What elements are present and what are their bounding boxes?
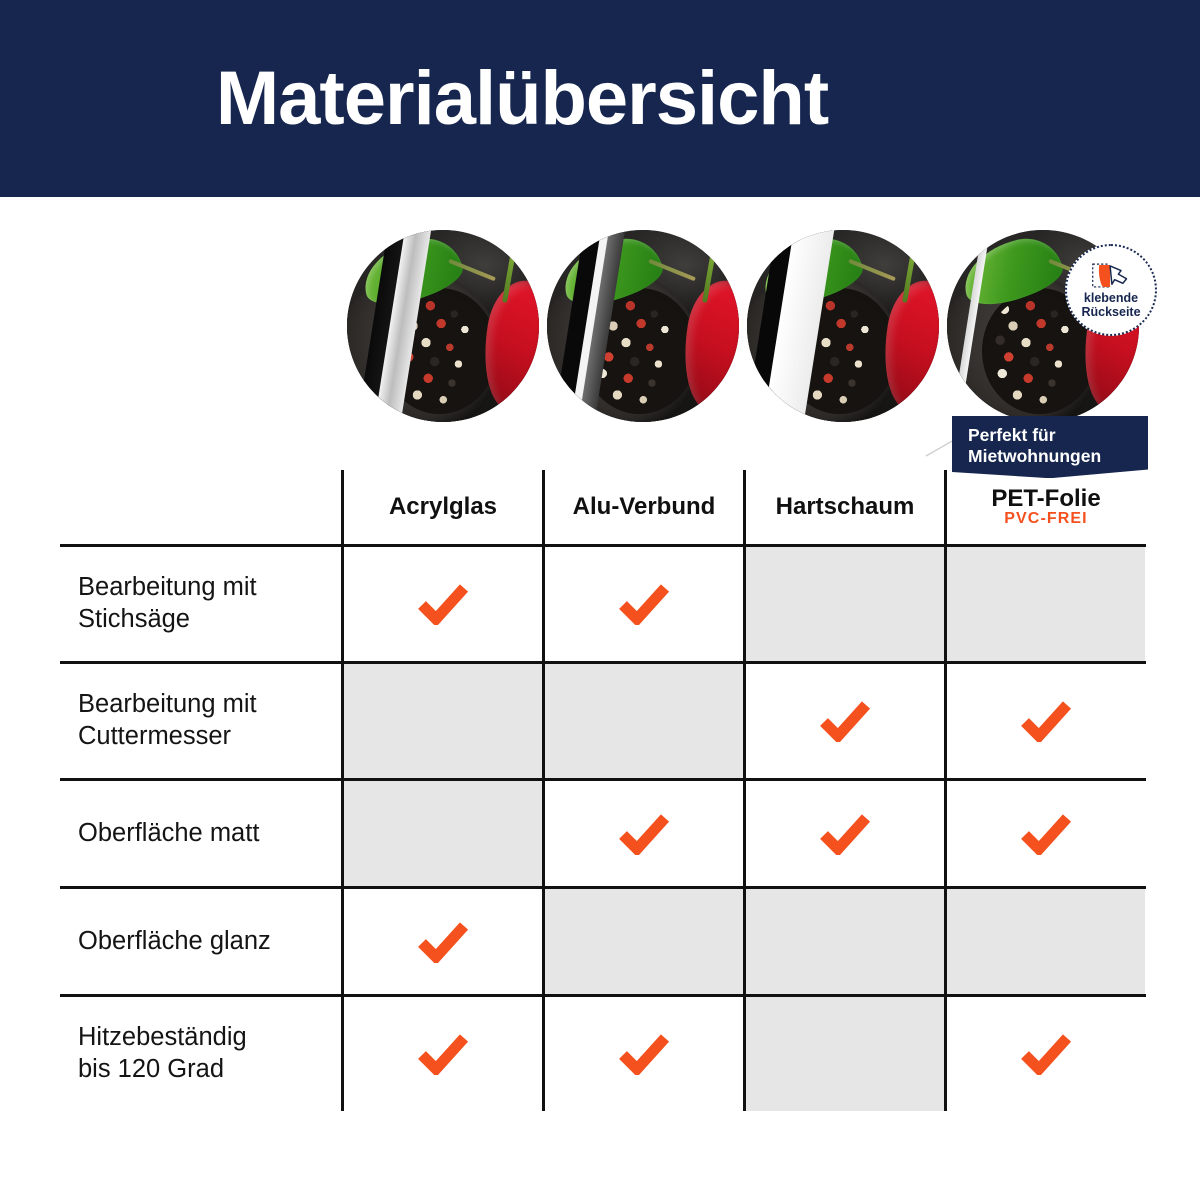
check-mark-icon bbox=[417, 1033, 469, 1075]
material-edge-alu-verbund bbox=[547, 230, 739, 422]
cell-hitze-alu-verbund bbox=[542, 997, 743, 1111]
rental-ribbon-wrapper: Perfekt für Mietwohnungen bbox=[952, 416, 1148, 478]
cell-hitze-pet-folie bbox=[944, 997, 1145, 1111]
table-corner-cell bbox=[60, 470, 341, 544]
check-mark-icon bbox=[417, 921, 469, 963]
check-mark-icon bbox=[1020, 700, 1072, 742]
table-header: Acrylglas Alu-Verbund Hartschaum PET-Fol… bbox=[60, 470, 1146, 544]
cell-matt-alu-verbund bbox=[542, 781, 743, 886]
row-label-line1: Oberfläche matt bbox=[78, 818, 259, 850]
row-label-stichsaege: Bearbeitung mit Stichsäge bbox=[60, 547, 341, 661]
check-mark-icon bbox=[1020, 1033, 1072, 1075]
cell-hitze-hartschaum bbox=[743, 997, 944, 1111]
table-row: Bearbeitung mit Cuttermesser bbox=[60, 661, 1146, 778]
column-header-hartschaum: Hartschaum bbox=[743, 470, 944, 544]
check-mark-icon bbox=[618, 1033, 670, 1075]
material-comparison-table: Acrylglas Alu-Verbund Hartschaum PET-Fol… bbox=[60, 470, 1146, 1111]
peel-sticker-icon bbox=[1090, 261, 1132, 291]
check-mark-icon bbox=[819, 813, 871, 855]
row-label-line2: bis 120 Grad bbox=[78, 1054, 247, 1086]
table-body: Bearbeitung mit Stichsäge Bearbeitung bbox=[60, 544, 1146, 1111]
product-circle-hartschaum bbox=[747, 230, 939, 422]
cell-cuttermesser-alu-verbund bbox=[542, 664, 743, 778]
column-title: PET-Folie bbox=[991, 486, 1100, 511]
cell-matt-pet-folie bbox=[944, 781, 1145, 886]
table-row: Oberfläche glanz bbox=[60, 886, 1146, 994]
cell-glanz-hartschaum bbox=[743, 889, 944, 994]
row-label-oberflaeche-glanz: Oberfläche glanz bbox=[60, 889, 341, 994]
rental-ribbon: Perfekt für Mietwohnungen bbox=[952, 416, 1148, 478]
sticky-badge-line2: Rückseite bbox=[1081, 306, 1140, 320]
column-header-alu-verbund: Alu-Verbund bbox=[542, 470, 743, 544]
sticky-badge-text: klebende Rückseite bbox=[1081, 292, 1140, 320]
column-title: Alu-Verbund bbox=[573, 493, 716, 521]
cell-glanz-acrylglas bbox=[341, 889, 542, 994]
material-edge-hartschaum bbox=[747, 230, 939, 422]
cell-matt-acrylglas bbox=[341, 781, 542, 886]
cell-matt-hartschaum bbox=[743, 781, 944, 886]
check-mark-icon bbox=[618, 813, 670, 855]
cell-stichsaege-alu-verbund bbox=[542, 547, 743, 661]
row-label-line2: Cuttermesser bbox=[78, 721, 257, 753]
cell-stichsaege-pet-folie bbox=[944, 547, 1145, 661]
row-label-line2: Stichsäge bbox=[78, 604, 257, 636]
column-title: Hartschaum bbox=[776, 493, 915, 521]
row-label-cuttermesser: Bearbeitung mit Cuttermesser bbox=[60, 664, 341, 778]
cell-stichsaege-hartschaum bbox=[743, 547, 944, 661]
row-label-oberflaeche-matt: Oberfläche matt bbox=[60, 781, 341, 886]
check-mark-icon bbox=[417, 583, 469, 625]
column-header-acrylglas: Acrylglas bbox=[341, 470, 542, 544]
product-circle-acrylglas bbox=[347, 230, 539, 422]
cell-cuttermesser-pet-folie bbox=[944, 664, 1145, 778]
cell-cuttermesser-acrylglas bbox=[341, 664, 542, 778]
row-label-line1: Oberfläche glanz bbox=[78, 926, 271, 958]
table-row: Hitzebeständig bis 120 Grad bbox=[60, 994, 1146, 1111]
cell-glanz-alu-verbund bbox=[542, 889, 743, 994]
check-mark-icon bbox=[819, 700, 871, 742]
table-row: Oberfläche matt bbox=[60, 778, 1146, 886]
cell-stichsaege-acrylglas bbox=[341, 547, 542, 661]
check-mark-icon bbox=[1020, 813, 1072, 855]
material-edge-acrylglas bbox=[347, 230, 539, 422]
page-header: Materialübersicht bbox=[0, 0, 1200, 197]
check-mark-icon bbox=[618, 583, 670, 625]
pet-header-stack: PET-Folie PVC-FREI bbox=[991, 486, 1100, 528]
ribbon-line2: Mietwohnungen bbox=[968, 446, 1135, 467]
cell-hitze-acrylglas bbox=[341, 997, 542, 1111]
table-header-row: Acrylglas Alu-Verbund Hartschaum PET-Fol… bbox=[60, 470, 1146, 544]
row-label-line1: Hitzebeständig bbox=[78, 1022, 247, 1054]
edge-film-band bbox=[947, 230, 992, 422]
row-label-line1: Bearbeitung mit bbox=[78, 689, 257, 721]
row-label-line1: Bearbeitung mit bbox=[78, 572, 257, 604]
material-overview-page: Materialübersicht bbox=[0, 0, 1200, 1200]
cell-glanz-pet-folie bbox=[944, 889, 1145, 994]
column-title: Acrylglas bbox=[389, 493, 497, 521]
sticky-badge-line1: klebende bbox=[1081, 292, 1140, 306]
page-title: Materialübersicht bbox=[216, 61, 828, 137]
table-row: Bearbeitung mit Stichsäge bbox=[60, 544, 1146, 661]
row-label-hitzebestaendig: Hitzebeständig bis 120 Grad bbox=[60, 997, 341, 1111]
column-header-pet-folie: PET-Folie PVC-FREI bbox=[944, 470, 1145, 544]
product-circle-alu-verbund bbox=[547, 230, 739, 422]
product-image-strip bbox=[0, 230, 1200, 430]
ribbon-line1: Perfekt für bbox=[968, 425, 1135, 446]
sticky-back-badge: klebende Rückseite bbox=[1065, 244, 1157, 336]
cell-cuttermesser-hartschaum bbox=[743, 664, 944, 778]
column-subtitle-pvc-frei: PVC-FREI bbox=[1004, 511, 1087, 528]
